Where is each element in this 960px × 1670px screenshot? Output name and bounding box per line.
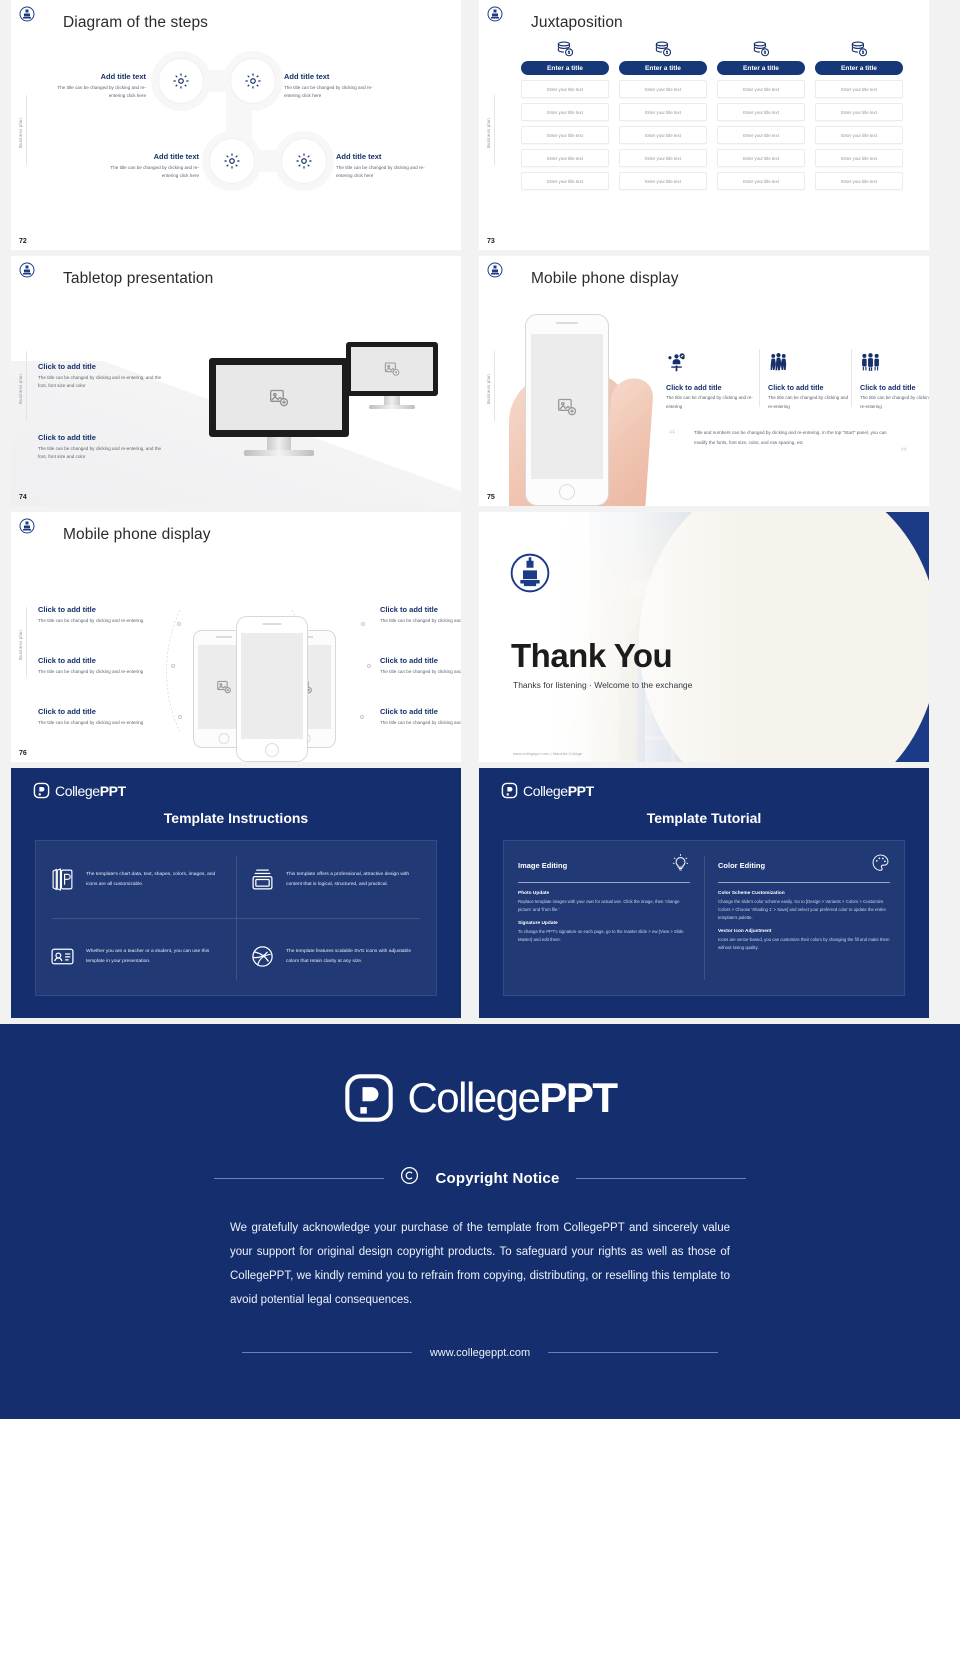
thank-you-footer: www.collegeppt.com | Marietta College <box>513 752 582 756</box>
feature-2: Click to add title The title can be chan… <box>768 352 850 411</box>
divider-left <box>242 1352 412 1353</box>
image-placeholder-icon <box>269 388 289 408</box>
slide-mobile-phone-display-2[interactable]: Business plan Mobile phone display 76 <box>11 512 461 762</box>
juxtaposition-cell[interactable]: Enter your title text <box>815 80 903 98</box>
dribbble-ball-icon <box>249 944 275 969</box>
box-stack-icon <box>249 867 275 892</box>
copyright-brand-name: CollegePPT <box>407 1074 616 1122</box>
college-crest-icon <box>19 518 35 534</box>
tutorial-text: Replace template images with your own fo… <box>518 898 690 914</box>
side-rule <box>26 351 27 421</box>
feature-divider-2 <box>851 349 852 407</box>
step-text-3: Add title text The title can be changed … <box>94 152 199 181</box>
mobile-text-right-2: Click to add title The title can be chan… <box>380 656 461 676</box>
panel-horizontal-divider <box>52 918 420 919</box>
juxtaposition-cell[interactable]: Enter your title text <box>717 149 805 167</box>
instruction-text: Whether you are a teacher or a student, … <box>86 947 223 967</box>
tutorial-panel: Image Editing Photo Update Replace templ… <box>503 840 905 996</box>
tabletop-text-1: Click to add title The title can be chan… <box>38 362 163 391</box>
gear-icon <box>172 72 190 90</box>
feature-body: The title can be changed by clicking and… <box>860 394 929 411</box>
juxtaposition-column-4[interactable]: Enter a title Enter your title text Ente… <box>815 38 903 190</box>
slide-number: 74 <box>19 494 27 501</box>
mobile-text-left-3: Click to add title The title can be chan… <box>38 707 153 727</box>
mobile-title: Click to add title <box>380 605 461 614</box>
feature-title: Click to add title <box>768 383 850 392</box>
collegeppt-p-logo-icon <box>343 1072 395 1124</box>
tutorial-text: To change the PPT's signature on each pa… <box>518 928 690 944</box>
mobile-text-right-1: Click to add title The title can be chan… <box>380 605 461 625</box>
phone-home-button <box>559 484 575 500</box>
orbit-dot <box>367 664 371 668</box>
phone-screen <box>241 633 303 739</box>
quote-text: Title and numbers can be changed by clic… <box>694 428 894 448</box>
side-label: Business plan <box>18 630 23 660</box>
monitor-primary <box>209 358 349 456</box>
brand-logo: CollegePPT <box>33 782 126 799</box>
marietta-college-crest-icon <box>509 552 551 594</box>
slide-template-tutorial[interactable]: CollegePPT Template Tutorial Image Editi… <box>479 768 929 1018</box>
slide-title: Tabletop presentation <box>63 270 213 288</box>
feature-3: Click to add title The title can be chan… <box>860 352 929 411</box>
phone-mockup <box>525 314 609 506</box>
slide-juxtaposition[interactable]: Business plan Juxtaposition 73 Enter a t… <box>479 0 929 250</box>
juxtaposition-cell[interactable]: Enter your title text <box>521 103 609 121</box>
juxtaposition-cell[interactable]: Enter your title text <box>717 126 805 144</box>
college-crest-icon <box>19 6 35 22</box>
juxtaposition-column-1[interactable]: Enter a title Enter your title text Ente… <box>521 38 609 190</box>
step-text-4: Add title text The title can be changed … <box>336 152 441 181</box>
slide-title: Diagram of the steps <box>63 14 208 32</box>
slide-row-2: Business plan Tabletop presentation 74 C… <box>0 256 960 506</box>
tutorial-column-title: Color Editing <box>718 861 765 870</box>
divider-right <box>576 1178 746 1179</box>
slide-number: 73 <box>487 238 495 245</box>
tabletop-body: The title can be changed by clicking and… <box>38 445 163 462</box>
brand-name-bold: College <box>407 1074 539 1121</box>
mobile-body: The title can be changed by clicking and… <box>380 719 461 727</box>
slide-number: 72 <box>19 238 27 245</box>
copyright-url[interactable]: www.collegeppt.com <box>430 1347 530 1359</box>
coin-stack-dollar-icon <box>521 38 609 60</box>
slide-row-1: Business plan Diagram of the steps 72 Ad… <box>0 0 960 250</box>
tutorial-text: Icons are vector-based, you can customiz… <box>718 936 890 952</box>
mobile-title: Click to add title <box>38 656 153 665</box>
college-crest-icon <box>19 262 35 278</box>
orbit-dot <box>178 715 182 719</box>
step-title: Add title text <box>284 72 389 81</box>
quote-close-icon: ” <box>901 444 908 460</box>
juxtaposition-cell[interactable]: Enter your title text <box>815 103 903 121</box>
slide-tabletop-presentation[interactable]: Business plan Tabletop presentation 74 C… <box>11 256 461 506</box>
step-node-4[interactable] <box>281 138 327 184</box>
juxtaposition-cell[interactable]: Enter your title text <box>521 149 609 167</box>
id-card-icon <box>49 944 75 969</box>
slide-number: 75 <box>487 494 495 501</box>
juxtaposition-cell[interactable]: Enter your title text <box>815 149 903 167</box>
copyright-body: We gratefully acknowledge your purchase … <box>230 1216 730 1313</box>
orbit-dot <box>361 622 365 626</box>
feature-title: Click to add title <box>860 383 929 392</box>
side-rule <box>26 607 27 677</box>
slide-number: 76 <box>19 750 27 757</box>
college-crest-icon <box>487 6 503 22</box>
gear-icon <box>244 72 262 90</box>
brand-name: CollegePPT <box>523 783 594 799</box>
brand-name-light: PPT <box>100 783 126 799</box>
slide-row-4: CollegePPT Template Instructions The tem… <box>0 768 960 1018</box>
brand-name-light: PPT <box>568 783 594 799</box>
instruction-item-1: The template's chart data, text, shapes,… <box>36 841 236 918</box>
mobile-text-left-1: Click to add title The title can be chan… <box>38 605 153 625</box>
instruction-item-4: The template features scalable SVG icons… <box>236 918 436 995</box>
thank-you-title: Thank You <box>511 637 672 675</box>
tutorial-rule <box>518 882 690 883</box>
instruction-text: The template features scalable SVG icons… <box>286 947 423 967</box>
juxtaposition-title-button[interactable]: Enter a title <box>619 61 707 75</box>
image-placeholder-icon <box>384 361 400 377</box>
instruction-item-3: Whether you are a teacher or a student, … <box>36 918 236 995</box>
coin-stack-dollar-icon <box>619 38 707 60</box>
juxtaposition-cell[interactable]: Enter your title text <box>521 126 609 144</box>
phone-speaker <box>216 636 232 638</box>
copyright-heading-row: Copyright Notice <box>0 1166 960 1190</box>
mobile-title: Click to add title <box>38 707 153 716</box>
instructions-heading: Template Instructions <box>11 810 461 826</box>
copyright-c-icon <box>400 1166 419 1190</box>
mobile-text-left-2: Click to add title The title can be chan… <box>38 656 153 676</box>
step-node-3[interactable] <box>209 138 255 184</box>
divider-right <box>548 1352 718 1353</box>
slide-template-instructions[interactable]: CollegePPT Template Instructions The tem… <box>11 768 461 1018</box>
juxtaposition-cell[interactable]: Enter your title text <box>619 80 707 98</box>
monitor-screen <box>346 342 438 396</box>
juxtaposition-cell[interactable]: Enter your title text <box>815 126 903 144</box>
step-text-2: Add title text The title can be changed … <box>284 72 389 101</box>
gear-icon <box>223 152 241 170</box>
brand-name-bold: College <box>55 783 100 799</box>
image-placeholder-icon <box>557 397 577 417</box>
three-people-icon <box>860 352 881 373</box>
instructions-panel: The template's chart data, text, shapes,… <box>35 840 437 996</box>
step-node-1[interactable] <box>158 58 204 104</box>
team-check-icon <box>666 352 687 373</box>
divider-left <box>214 1178 384 1179</box>
mobile-title: Click to add title <box>380 656 461 665</box>
monitor-secondary <box>346 342 438 409</box>
phone-speaker <box>263 623 282 625</box>
phone-mockup-center <box>236 616 308 762</box>
deck-preview-page: Business plan Diagram of the steps 72 Ad… <box>0 0 960 1419</box>
phone-speaker <box>556 322 578 324</box>
phone-screen <box>531 334 603 479</box>
juxtaposition-title-button[interactable]: Enter a title <box>521 61 609 75</box>
instruction-text: The template's chart data, text, shapes,… <box>86 870 223 890</box>
step-node-2[interactable] <box>230 58 276 104</box>
mobile-body: The title can be changed by clicking and… <box>38 719 153 727</box>
copyright-section: CollegePPT Copyright Notice We gratefull… <box>0 1024 960 1419</box>
juxtaposition-cell[interactable]: Enter your title text <box>717 172 805 190</box>
side-label: Business plan <box>486 118 491 148</box>
slides-p-icon <box>49 867 75 892</box>
feature-1: Click to add title The title can be chan… <box>666 352 754 411</box>
juxtaposition-cell[interactable]: Enter your title text <box>521 80 609 98</box>
mobile-body: The title can be changed by clicking and… <box>380 617 461 625</box>
feature-body: The title can be changed by clicking and… <box>768 394 850 411</box>
step-body: The title can be changed by clicking and… <box>94 164 199 181</box>
juxtaposition-column-3[interactable]: Enter a title Enter your title text Ente… <box>717 38 805 190</box>
copyright-footer-row: www.collegeppt.com <box>0 1347 960 1359</box>
tabletop-body: The title can be changed by clicking and… <box>38 374 163 391</box>
mobile-body: The title can be changed by clicking and… <box>38 668 153 676</box>
juxtaposition-cell[interactable]: Enter your title text <box>619 103 707 121</box>
brand-logo: CollegePPT <box>501 782 594 799</box>
juxtaposition-column-2[interactable]: Enter a title Enter your title text Ente… <box>619 38 707 190</box>
group-people-icon <box>768 352 789 373</box>
side-label: Business plan <box>18 118 23 148</box>
slide-thank-you[interactable]: MARIETTA COLLEGE Thank You Thanks for li… <box>479 512 929 762</box>
step-body: The title can be changed by clicking and… <box>336 164 441 181</box>
feature-title: Click to add title <box>666 383 754 392</box>
juxtaposition-cell[interactable]: Enter your title text <box>521 172 609 190</box>
feature-body: The title can be changed by clicking and… <box>666 394 754 411</box>
tabletop-title: Click to add title <box>38 433 163 442</box>
mobile-body: The title can be changed by clicking and… <box>38 617 153 625</box>
step-body: The title can be changed by clicking and… <box>284 84 389 101</box>
slide-row-3: Business plan Mobile phone display 76 <box>0 512 960 762</box>
brand-name-light: PPT <box>539 1074 616 1121</box>
brand-name-bold: College <box>523 783 568 799</box>
juxtaposition-cell[interactable]: Enter your title text <box>619 172 707 190</box>
step-title: Add title text <box>94 152 199 161</box>
tutorial-rule <box>718 882 890 883</box>
feature-divider-1 <box>759 349 760 407</box>
college-crest-icon <box>487 262 503 278</box>
instruction-text: This template offers a professional, att… <box>286 870 423 890</box>
tutorial-subtitle: Vector Icon Adjustment <box>718 929 890 934</box>
coin-stack-dollar-icon <box>815 38 903 60</box>
side-label: Business plan <box>18 374 23 404</box>
slide-diagram-of-steps[interactable]: Business plan Diagram of the steps 72 Ad… <box>11 0 461 250</box>
juxtaposition-cell[interactable]: Enter your title text <box>717 80 805 98</box>
tutorial-subtitle: Photo Update <box>518 891 690 896</box>
tutorial-text: Change the slide's color scheme easily. … <box>718 898 890 922</box>
side-rule <box>494 351 495 421</box>
side-rule <box>494 95 495 165</box>
copyright-brand-logo: CollegePPT <box>0 1072 960 1124</box>
phone-home-button <box>265 743 279 757</box>
image-placeholder-icon <box>217 680 232 695</box>
mobile-title: Click to add title <box>38 605 153 614</box>
phone-home-button <box>219 733 230 744</box>
instruction-item-2: This template offers a professional, att… <box>236 841 436 918</box>
slide-title: Mobile phone display <box>531 270 679 288</box>
side-rule <box>26 95 27 165</box>
step-title: Add title text <box>336 152 441 161</box>
tutorial-column-head: Color Editing <box>718 853 890 877</box>
color-palette-icon <box>871 853 890 877</box>
orbit-dot <box>360 715 364 719</box>
orbit-dot <box>177 622 181 626</box>
juxtaposition-cell[interactable]: Enter your title text <box>619 149 707 167</box>
tutorial-subtitle: Color Scheme Customization <box>718 891 890 896</box>
monitor-screen <box>209 358 349 437</box>
tutorial-subtitle: Signature Update <box>518 921 690 926</box>
tutorial-column-title: Image Editing <box>518 861 567 870</box>
tabletop-title: Click to add title <box>38 362 163 371</box>
brand-name: CollegePPT <box>55 783 126 799</box>
slide-title: Juxtaposition <box>531 14 623 32</box>
step-body: The title can be changed by clicking and… <box>41 84 146 101</box>
mobile-body: The title can be changed by clicking and… <box>380 668 461 676</box>
thank-you-subtitle: Thanks for listening · Welcome to the ex… <box>513 680 692 690</box>
tutorial-heading: Template Tutorial <box>479 810 929 826</box>
step-title: Add title text <box>41 72 146 81</box>
copyright-heading: Copyright Notice <box>435 1170 559 1187</box>
juxtaposition-cell[interactable]: Enter your title text <box>619 126 707 144</box>
juxtaposition-cell[interactable]: Enter your title text <box>717 103 805 121</box>
juxtaposition-cell[interactable]: Enter your title text <box>815 172 903 190</box>
quote-open-icon: “ <box>669 426 676 442</box>
juxtaposition-title-button[interactable]: Enter a title <box>717 61 805 75</box>
tutorial-column-color-editing: Color Editing Color Scheme Customization… <box>704 841 904 995</box>
mobile-title: Click to add title <box>380 707 461 716</box>
step-text-1: Add title text The title can be changed … <box>41 72 146 101</box>
lightbulb-icon <box>671 853 690 877</box>
gear-icon <box>295 152 313 170</box>
orbit-dot <box>171 664 175 668</box>
mobile-text-right-3: Click to add title The title can be chan… <box>380 707 461 727</box>
tabletop-text-2: Click to add title The title can be chan… <box>38 433 163 462</box>
collegeppt-p-logo-icon <box>501 782 518 799</box>
collegeppt-p-logo-icon <box>33 782 50 799</box>
slide-title: Mobile phone display <box>63 526 211 544</box>
tutorial-column-head: Image Editing <box>518 853 690 877</box>
side-label: Business plan <box>486 374 491 404</box>
thank-you-canvas: MARIETTA COLLEGE Thank You Thanks for li… <box>479 512 929 762</box>
coin-stack-dollar-icon <box>717 38 805 60</box>
slide-mobile-phone-display-1[interactable]: Business plan Mobile phone display 75 Cl… <box>479 256 929 506</box>
juxtaposition-title-button[interactable]: Enter a title <box>815 61 903 75</box>
tutorial-column-image-editing: Image Editing Photo Update Replace templ… <box>504 841 704 995</box>
